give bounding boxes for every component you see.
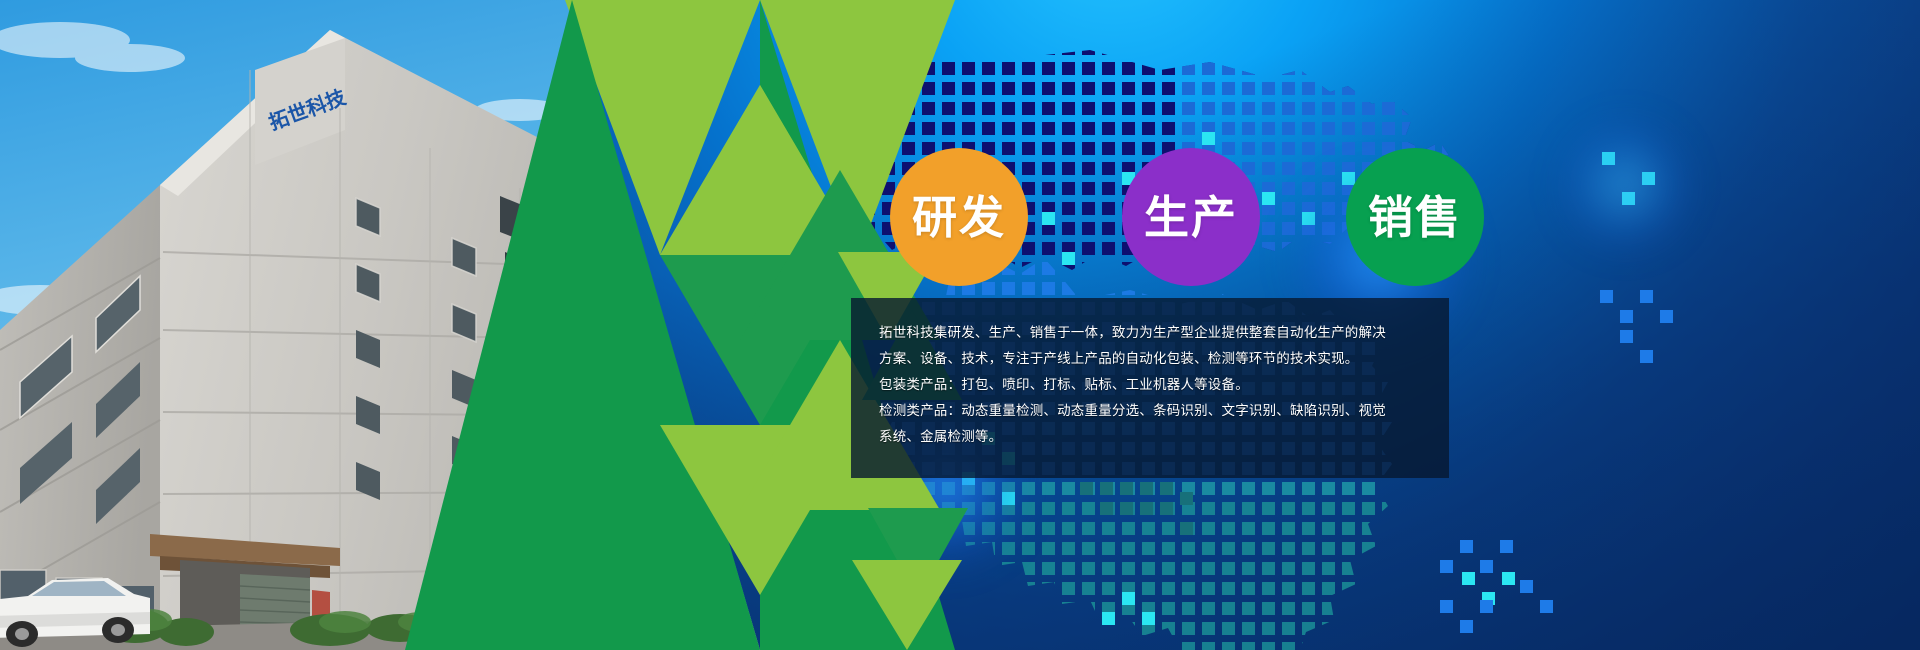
description-line-5: 系统、金属检测等。	[879, 424, 1425, 450]
circle-production[interactable]: 生产	[1122, 148, 1260, 286]
description-line-1: 拓世科技集研发、生产、销售于一体，致力为生产型企业提供整套自动化生产的解决	[879, 320, 1425, 346]
circle-production-label: 生产	[1144, 195, 1238, 240]
company-description-panel: 拓世科技集研发、生产、销售于一体，致力为生产型企业提供整套自动化生产的解决 方案…	[851, 298, 1449, 478]
circle-research-development[interactable]: 研发	[890, 148, 1028, 286]
description-line-4: 检测类产品：动态重量检测、动态重量分选、条码识别、文字识别、缺陷识别、视觉	[879, 398, 1425, 424]
green-triangle-divider	[0, 0, 1000, 650]
description-line-3: 包装类产品：打包、喷印、打标、贴标、工业机器人等设备。	[879, 372, 1425, 398]
circle-sales[interactable]: 销售	[1346, 148, 1484, 286]
circle-rd-label: 研发	[912, 195, 1006, 240]
circle-sales-label: 销售	[1368, 195, 1462, 240]
description-line-2: 方案、设备、技术，专注于产线上产品的自动化包装、检测等环节的技术实现。	[879, 346, 1425, 372]
company-banner: 拓世科技	[0, 0, 1920, 650]
